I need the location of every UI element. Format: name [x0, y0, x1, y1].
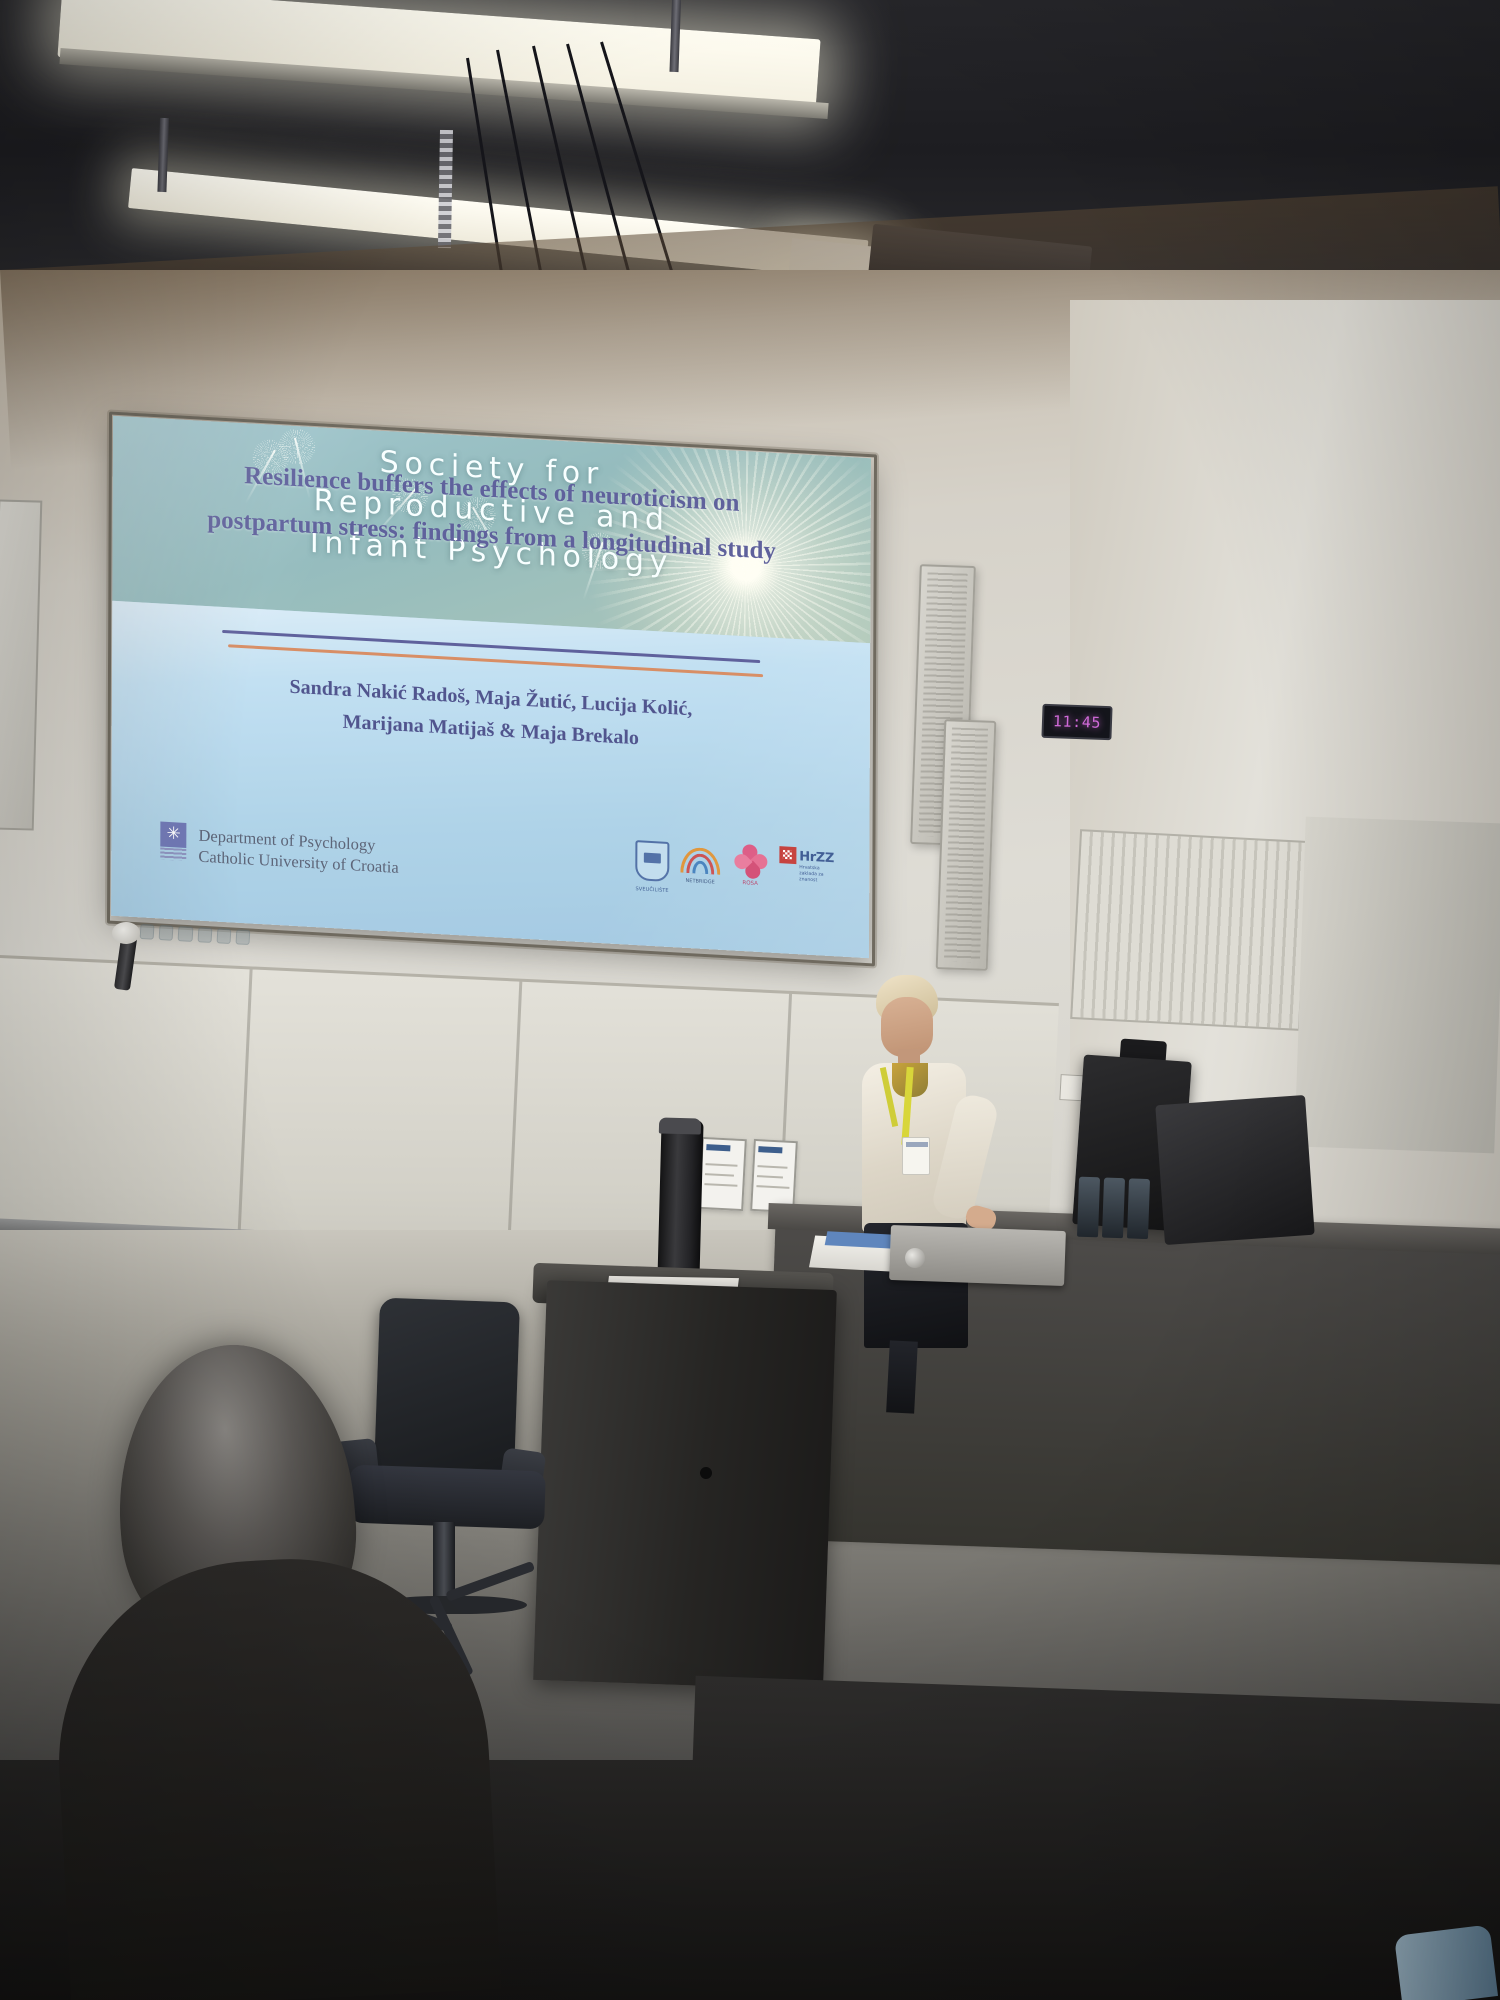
wall-poster-right [750, 1139, 798, 1213]
lectern-microphone-head [659, 1117, 701, 1134]
wall-speaker-lower [936, 719, 997, 971]
university-mark-icon [161, 821, 187, 860]
options-icon[interactable] [216, 928, 231, 944]
hrzz-logo-icon: HrZZ Hrvatska zaklada za znanost [779, 846, 835, 891]
conference-badge [902, 1137, 930, 1175]
pen-tool-icon[interactable] [159, 925, 174, 941]
radiator [1070, 829, 1310, 1031]
projection-screen[interactable]: Society for Reproductive and Infant Psyc… [111, 416, 871, 958]
play-icon[interactable] [235, 929, 250, 945]
wall-poster-left [698, 1137, 747, 1211]
foreground-bottle [1394, 1924, 1498, 2000]
chair-backrest [374, 1298, 520, 1478]
hrzz-logo-name: HrZZ [799, 849, 834, 866]
presenter [848, 975, 1008, 1415]
slide-menu-icon[interactable] [178, 926, 193, 942]
clock-time: 11:45 [1053, 712, 1102, 732]
microphone-icon [112, 922, 140, 944]
unizg-shield-logo-icon: SVEUČILIŠTE [635, 840, 669, 882]
presentation-slide: Society for Reproductive and Infant Psyc… [111, 416, 871, 958]
bottle-rack [1077, 1177, 1157, 1240]
hrzz-logo-subcaption: Hrvatska zaklada za znanost [799, 865, 835, 886]
mouse-cursor-icon: ⌖ [540, 697, 547, 706]
prev-slide-icon[interactable] [140, 923, 155, 939]
right-wall-panel [1294, 817, 1500, 1154]
zoom-icon[interactable] [197, 927, 212, 943]
presenter-head [881, 997, 933, 1057]
digital-clock: 11:45 [1041, 704, 1112, 740]
rainbow-arch-logo-icon: NETBRIDGE [679, 842, 721, 884]
ceiling-hanger-3 [438, 130, 453, 248]
chair-leg [445, 1561, 535, 1602]
chair-seat [348, 1465, 546, 1530]
lectern [533, 1280, 837, 1690]
control-monitor-right [1155, 1095, 1314, 1245]
slide-body [111, 601, 870, 958]
lecture-hall-photo: 11:45 Society for Reproductive and Infan… [0, 0, 1500, 2000]
presenter-leg [886, 1340, 918, 1413]
pink-flower-logo-icon: ROSA [731, 843, 769, 887]
